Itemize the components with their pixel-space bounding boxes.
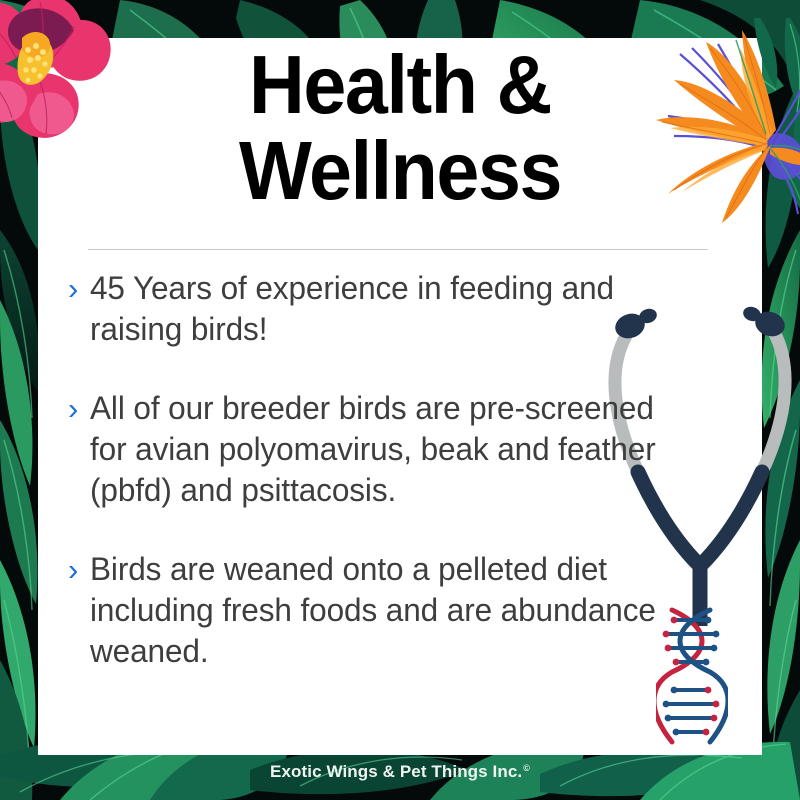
hibiscus-flower-icon [0,0,114,144]
list-item: › All of our breeder birds are pre-scree… [68,388,688,511]
bird-of-paradise-flower-icon [640,18,800,223]
bullet-list: › 45 Years of experience in feeding and … [68,268,688,672]
copyright-icon: © [523,763,530,773]
list-item-text: 45 Years of experience in feeding and ra… [90,268,670,350]
list-item: › Birds are weaned onto a pelleted diet … [68,549,688,672]
list-item: › 45 Years of experience in feeding and … [68,268,688,350]
chevron-right-icon: › [68,268,90,309]
chevron-right-icon: › [68,549,90,590]
chevron-right-icon: › [68,388,90,429]
footer: Exotic Wings & Pet Things Inc.© [0,762,800,782]
poster-root: Health & Wellness › 45 Years of experien… [0,0,800,800]
list-item-text: All of our breeder birds are pre-screene… [90,388,670,511]
title-divider [88,249,708,250]
list-item-text: Birds are weaned onto a pelleted diet in… [90,549,670,672]
company-name: Exotic Wings & Pet Things Inc. [270,762,522,782]
